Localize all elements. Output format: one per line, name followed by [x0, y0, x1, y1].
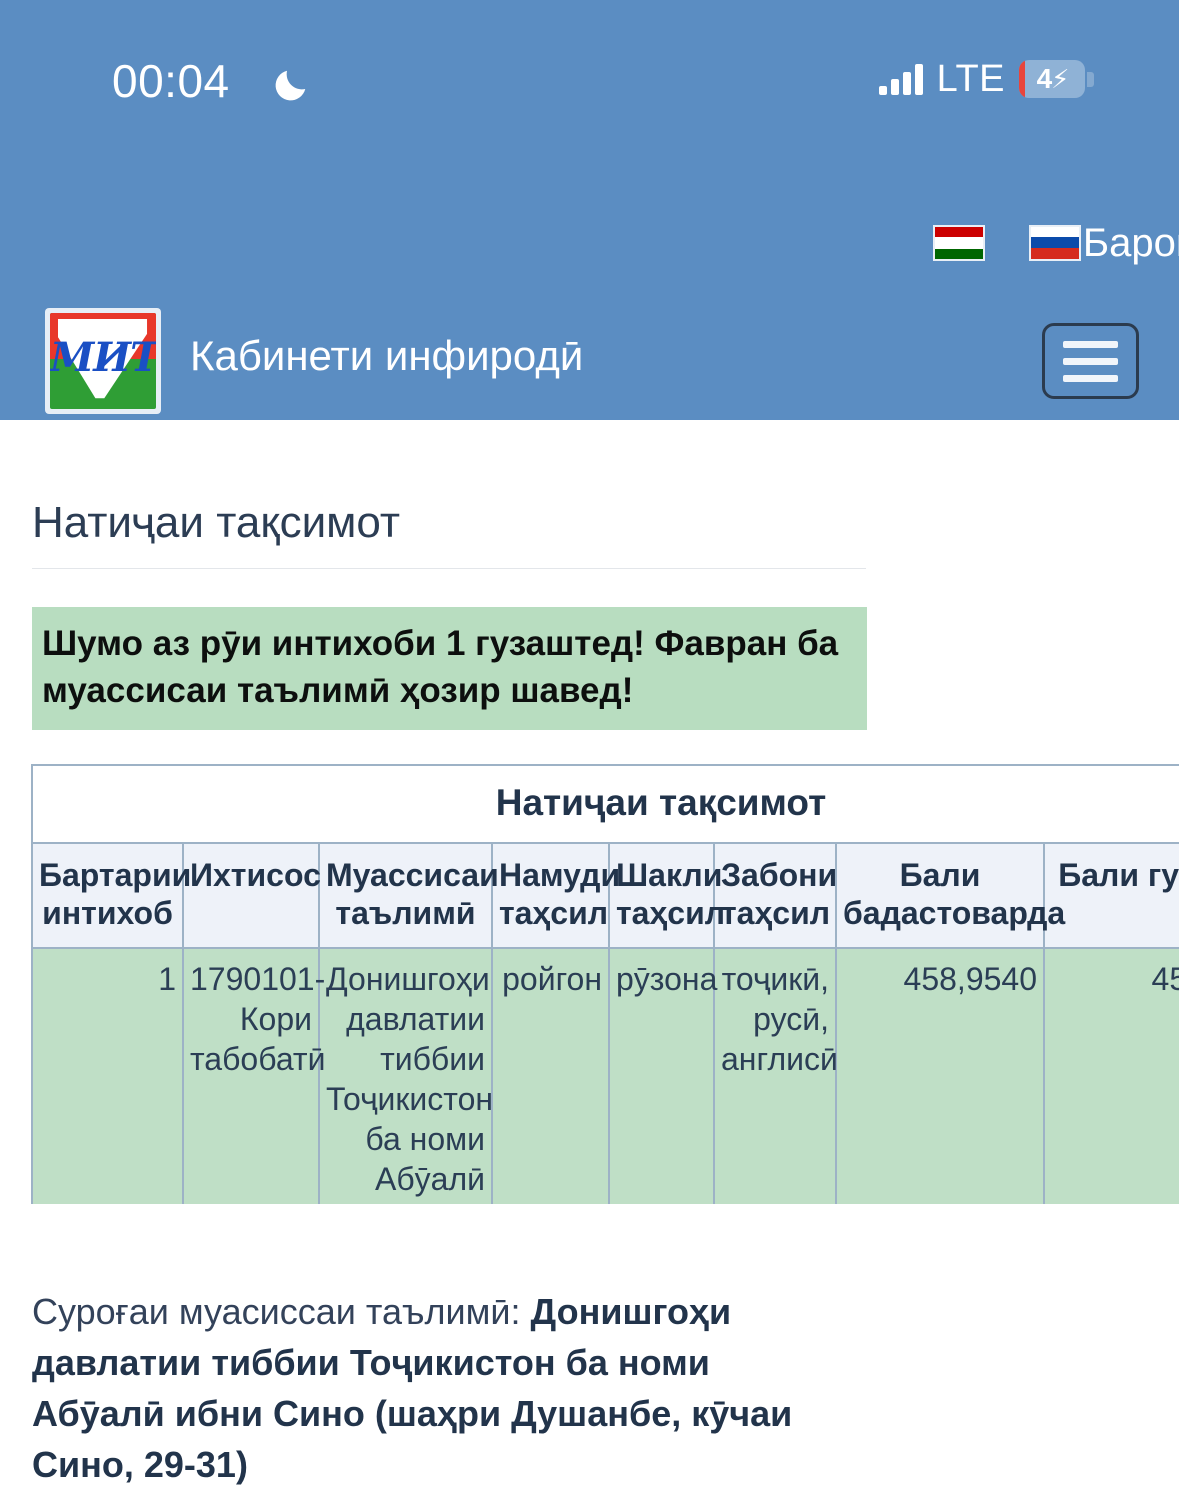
status-clock: 00:04	[112, 58, 230, 104]
language-logout-row: Баромад	[0, 218, 1179, 268]
col-header-priority: Бартарии интихоб	[32, 843, 183, 948]
institution-address: Суроғаи муасиссаи таълимӣ: Донишгоҳи дав…	[32, 1286, 852, 1490]
cell-specialty: 1790101-Кори табобатӣ	[183, 948, 319, 1204]
cell-score-achieved: 458,9540	[836, 948, 1044, 1204]
col-header-study-form: Шакли таҳсил	[609, 843, 714, 948]
battery-tip	[1087, 72, 1094, 87]
col-header-institution: Муассисаи таълимӣ	[319, 843, 492, 948]
charging-bolt-icon: ⚡	[1051, 66, 1069, 92]
cell-study-language: тоҷикӣ, русӣ, англисӣ	[714, 948, 836, 1204]
col-header-study-type: Намуди таҳсил	[492, 843, 609, 948]
mit-logo[interactable]: МИТ	[45, 308, 161, 414]
logo-text: МИТ	[50, 338, 156, 378]
russian-flag-icon[interactable]	[1029, 225, 1081, 261]
signal-bars-icon	[879, 63, 923, 95]
cell-study-form: рӯзона	[609, 948, 714, 1204]
main-content: Натиҷаи тақсимот Шумо аз рӯи интихоби 1 …	[0, 420, 1179, 1462]
app-header-band: 00:04 LTE 4 ⚡ Баро	[0, 0, 1179, 420]
network-type-label: LTE	[937, 60, 1005, 98]
moon-icon	[272, 66, 310, 104]
page-title: Натиҷаи тақсимот	[32, 501, 400, 545]
cell-institution: Донишгоҳи давлатии тиббии Тоҷикистон ба …	[319, 948, 492, 1204]
table-row: 1 1790101-Кори табобатӣ Донишгоҳи давлат…	[32, 948, 1179, 1204]
hamburger-menu-icon[interactable]	[1042, 323, 1139, 399]
title-divider	[32, 568, 866, 569]
mit-logo-graphic: МИТ	[50, 313, 156, 409]
institution-address-label: Суроғаи муасиссаи таълимӣ:	[32, 1291, 531, 1332]
col-header-study-language: Забони таҳсил	[714, 843, 836, 948]
status-indicators: LTE 4 ⚡	[879, 60, 1094, 98]
cell-priority: 1	[32, 948, 183, 1204]
results-table: Натиҷаи тақсимот Бартарии интихоб Ихтисо…	[31, 764, 1179, 1204]
success-alert: Шумо аз рӯи интихоби 1 гузаштед! Фавран …	[32, 607, 867, 730]
battery-icon: 4 ⚡	[1019, 60, 1085, 98]
col-header-specialty: Ихтисос	[183, 843, 319, 948]
logout-link[interactable]: Баромад	[1083, 223, 1179, 263]
results-table-caption: Натиҷаи тақсимот	[31, 764, 1179, 842]
col-header-score-achieved: Бали бадастоварда	[836, 843, 1044, 948]
results-table-scroll[interactable]: Натиҷаи тақсимот Бартарии интихоб Ихтисо…	[31, 764, 1179, 1204]
battery-indicator: 4 ⚡	[1019, 60, 1094, 98]
page-brand-title: Кабинети инфиродӣ	[190, 335, 583, 377]
status-bar: 00:04 LTE 4 ⚡	[0, 0, 1179, 130]
battery-low-level	[1019, 60, 1025, 98]
cell-study-type: ройгон	[492, 948, 609, 1204]
brand-row: МИТ Кабинети инфиродӣ	[0, 300, 1179, 420]
battery-percent-label: 4	[1035, 65, 1053, 93]
cell-score-passing: 453,3355	[1044, 948, 1179, 1204]
table-header-row: Бартарии интихоб Ихтисос Муассисаи таъли…	[32, 843, 1179, 948]
tajik-flag-icon[interactable]	[933, 225, 985, 261]
